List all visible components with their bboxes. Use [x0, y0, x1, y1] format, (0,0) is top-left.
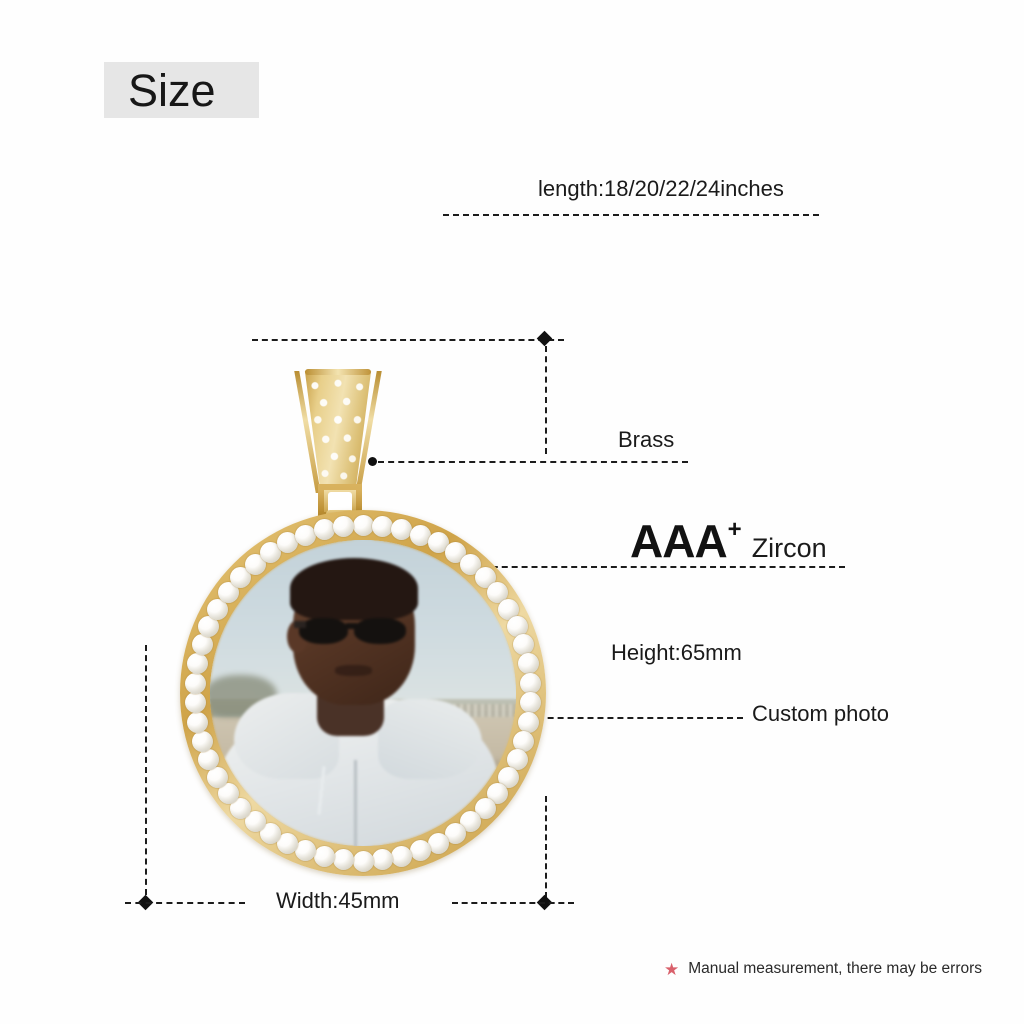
zircon-stone	[391, 846, 412, 867]
custom-photo-window	[210, 540, 516, 846]
label-width: Width:45mm	[276, 888, 399, 914]
label-stone-name: Zircon	[752, 533, 827, 564]
zircon-stone	[353, 515, 374, 536]
bail-top-cap	[305, 369, 371, 375]
zircon-stone	[187, 712, 208, 733]
height-top-marker-icon	[537, 331, 553, 347]
size-chart-image: Size length:18/20/22/24inches Brass AAA+…	[0, 0, 1024, 1024]
disclaimer-text: Manual measurement, there may be errors	[688, 960, 982, 978]
width-bottom-right-line	[452, 902, 574, 904]
label-stone-grade: AAA	[630, 514, 727, 568]
height-top-dashed-line	[252, 339, 564, 341]
length-dashed-line	[443, 214, 819, 216]
width-vertical-line	[145, 645, 147, 895]
width-bottom-left-line	[125, 902, 245, 904]
star-icon: ★	[664, 961, 679, 978]
zircon-stone	[391, 519, 412, 540]
zircon-stone	[314, 846, 335, 867]
zircon-stone	[513, 634, 534, 655]
label-material: Brass	[618, 427, 674, 453]
label-custom-photo: Custom photo	[752, 701, 889, 727]
page-title: Size	[128, 66, 216, 116]
label-stone-grade-plus: +	[728, 516, 742, 544]
zircon-stone	[372, 849, 393, 870]
photo-sunglasses-right-lens	[354, 618, 406, 644]
zircon-stone	[333, 849, 354, 870]
label-height: Height:65mm	[611, 640, 742, 666]
label-necklace-length: length:18/20/22/24inches	[538, 176, 784, 202]
measurement-disclaimer: ★ Manual measurement, there may be error…	[664, 960, 982, 978]
photo-sunglasses-bridge	[346, 623, 357, 629]
zircon-stone	[185, 673, 206, 694]
photo-person-hair	[290, 558, 419, 619]
zircon-stone	[520, 673, 541, 694]
photo-hoodie-zipper	[354, 760, 357, 846]
zircon-stone	[520, 692, 541, 713]
pendant-bail	[302, 371, 374, 493]
photo-sunglasses-arm	[294, 621, 306, 628]
medallion-frame	[180, 510, 546, 876]
zircon-stone	[353, 851, 374, 872]
zircon-stone	[333, 516, 354, 537]
label-stone: AAA+Zircon	[630, 514, 827, 568]
zircon-stone	[518, 653, 539, 674]
zircon-stone	[518, 712, 539, 733]
photo-person-mouth	[335, 665, 372, 675]
zircon-stone	[314, 519, 335, 540]
zircon-stone	[372, 516, 393, 537]
zircon-stone	[187, 653, 208, 674]
zircon-stone	[185, 692, 206, 713]
pendant-product-image	[150, 360, 570, 890]
